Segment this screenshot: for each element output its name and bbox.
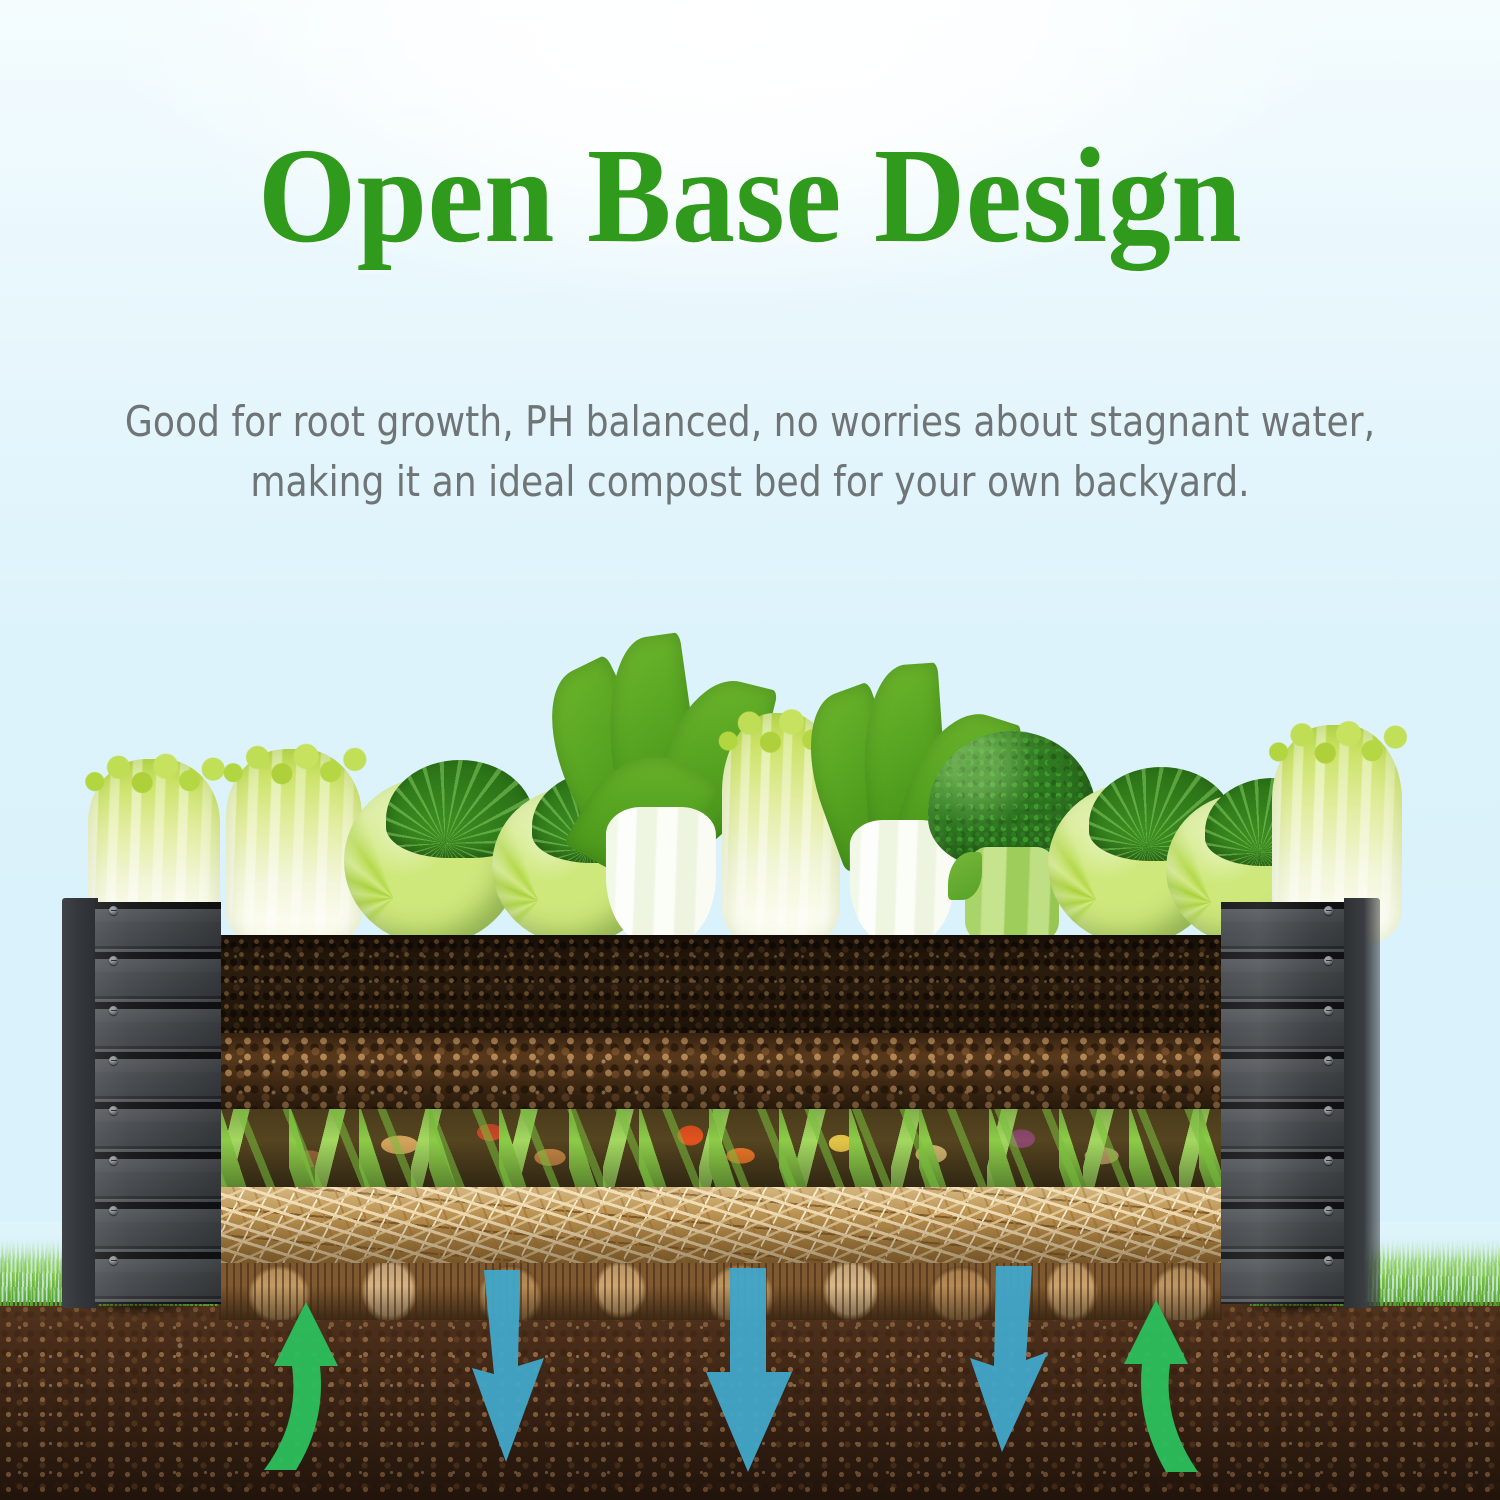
airflow-up-right-arrow bbox=[1118, 1294, 1228, 1478]
layer-food-scraps bbox=[219, 1109, 1222, 1187]
screw-icon bbox=[1324, 1206, 1333, 1215]
bed-cross-section bbox=[219, 935, 1222, 1320]
bok-choy-stem bbox=[606, 807, 716, 945]
airflow-up-left-arrow bbox=[234, 1296, 344, 1476]
post-side-panel bbox=[62, 898, 98, 1308]
layer-compost-bark bbox=[219, 1033, 1222, 1109]
cabbage-frill-icon bbox=[80, 748, 228, 796]
layer-straw bbox=[219, 1187, 1222, 1263]
screw-icon bbox=[109, 1156, 118, 1165]
broccoli-stalk bbox=[965, 847, 1059, 945]
post-front-panel bbox=[95, 902, 221, 1304]
page-subtitle: Good for root growth, PH balanced, no wo… bbox=[45, 392, 1455, 511]
vegetable-row bbox=[0, 600, 1500, 945]
cabbage-frill-icon bbox=[1264, 712, 1410, 769]
subtitle-line-1: Good for root growth, PH balanced, no wo… bbox=[45, 392, 1455, 452]
subtitle-line-2: making it an ideal compost bed for your … bbox=[45, 452, 1455, 512]
napa-cabbage-2 bbox=[226, 749, 362, 945]
infographic-canvas: Open Base Design Good for root growth, P… bbox=[0, 0, 1500, 1500]
screw-icon bbox=[1324, 1256, 1333, 1265]
post-side-panel bbox=[1344, 898, 1380, 1308]
screw-icon bbox=[1324, 1106, 1333, 1115]
screw-icon bbox=[1324, 956, 1333, 965]
screw-icon bbox=[1324, 1006, 1333, 1015]
screw-icon bbox=[109, 1206, 118, 1215]
screw-icon bbox=[1324, 1056, 1333, 1065]
layer-top-soil bbox=[219, 935, 1222, 1033]
page-title: Open Base Design bbox=[53, 128, 1448, 264]
drainage-down-left-arrow bbox=[460, 1270, 570, 1470]
screw-icon bbox=[1324, 1156, 1333, 1165]
bed-post-right bbox=[1218, 898, 1380, 1308]
cabbage-frill-icon bbox=[218, 737, 370, 788]
screw-icon bbox=[109, 1106, 118, 1115]
drainage-down-center-arrow bbox=[700, 1268, 810, 1480]
bed-post-left bbox=[62, 898, 224, 1308]
post-front-panel bbox=[1221, 902, 1347, 1304]
screw-icon bbox=[109, 1006, 118, 1015]
screw-icon bbox=[109, 956, 118, 965]
drainage-down-right-arrow bbox=[952, 1266, 1062, 1462]
screw-icon bbox=[1324, 906, 1333, 915]
screw-icon bbox=[109, 906, 118, 915]
screw-icon bbox=[109, 1256, 118, 1265]
screw-icon bbox=[109, 1056, 118, 1065]
